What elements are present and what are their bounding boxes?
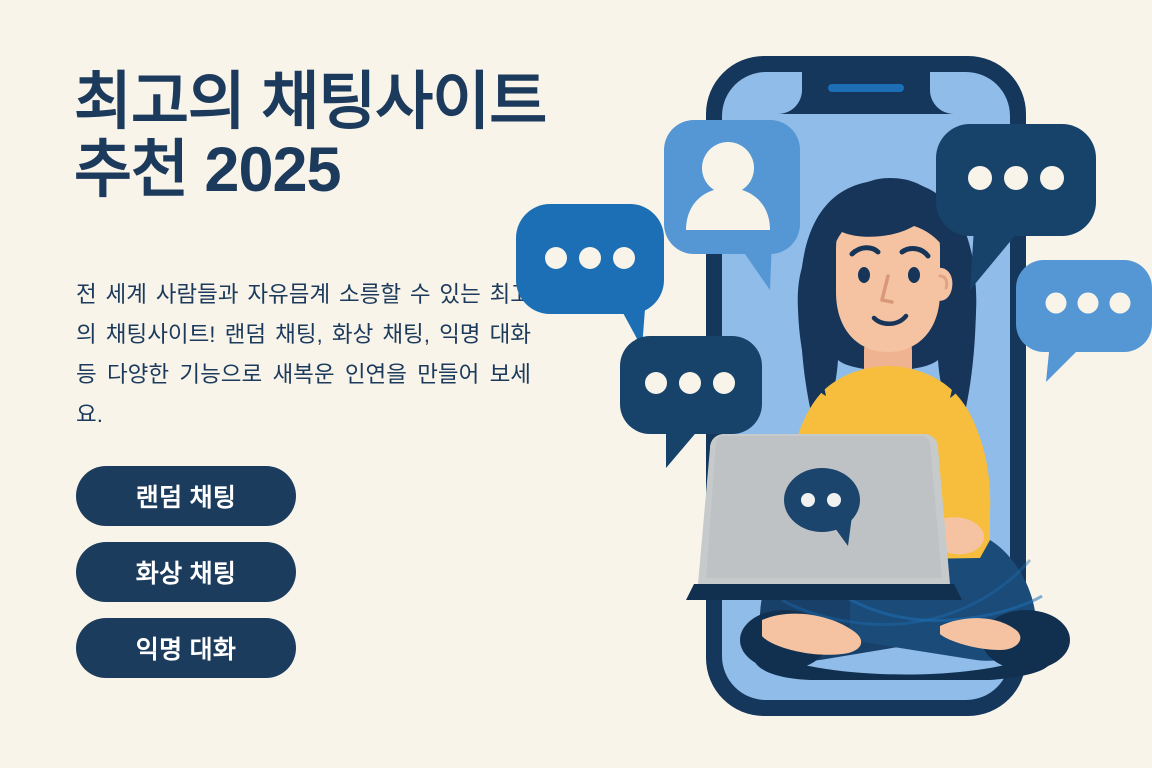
- hero-description: 전 세계 사람들과 자유믐계 소릉할 수 있는 최고의 채팅사이트! 랜덤 채팅…: [76, 275, 531, 435]
- hero-banner: 최고의 채팅사이트 추천 2025 전 세계 사람들과 자유믐계 소릉할 수 있…: [0, 0, 1152, 768]
- bubble-dots-mid-blue-icon: [516, 204, 664, 348]
- hero-illustration: [470, 0, 1152, 768]
- anonymous-chat-button[interactable]: 익명 대화: [76, 618, 296, 678]
- phone-speaker-slot: [828, 84, 904, 92]
- random-chat-button[interactable]: 랜덤 채팅: [76, 466, 296, 526]
- bubble-dots-sky-blue-right-icon: [1016, 260, 1152, 382]
- cta-button-group: 랜덤 채팅 화상 채팅 익명 대화: [76, 466, 296, 678]
- video-chat-button[interactable]: 화상 채팅: [76, 542, 296, 602]
- laptop-icon: [686, 434, 962, 600]
